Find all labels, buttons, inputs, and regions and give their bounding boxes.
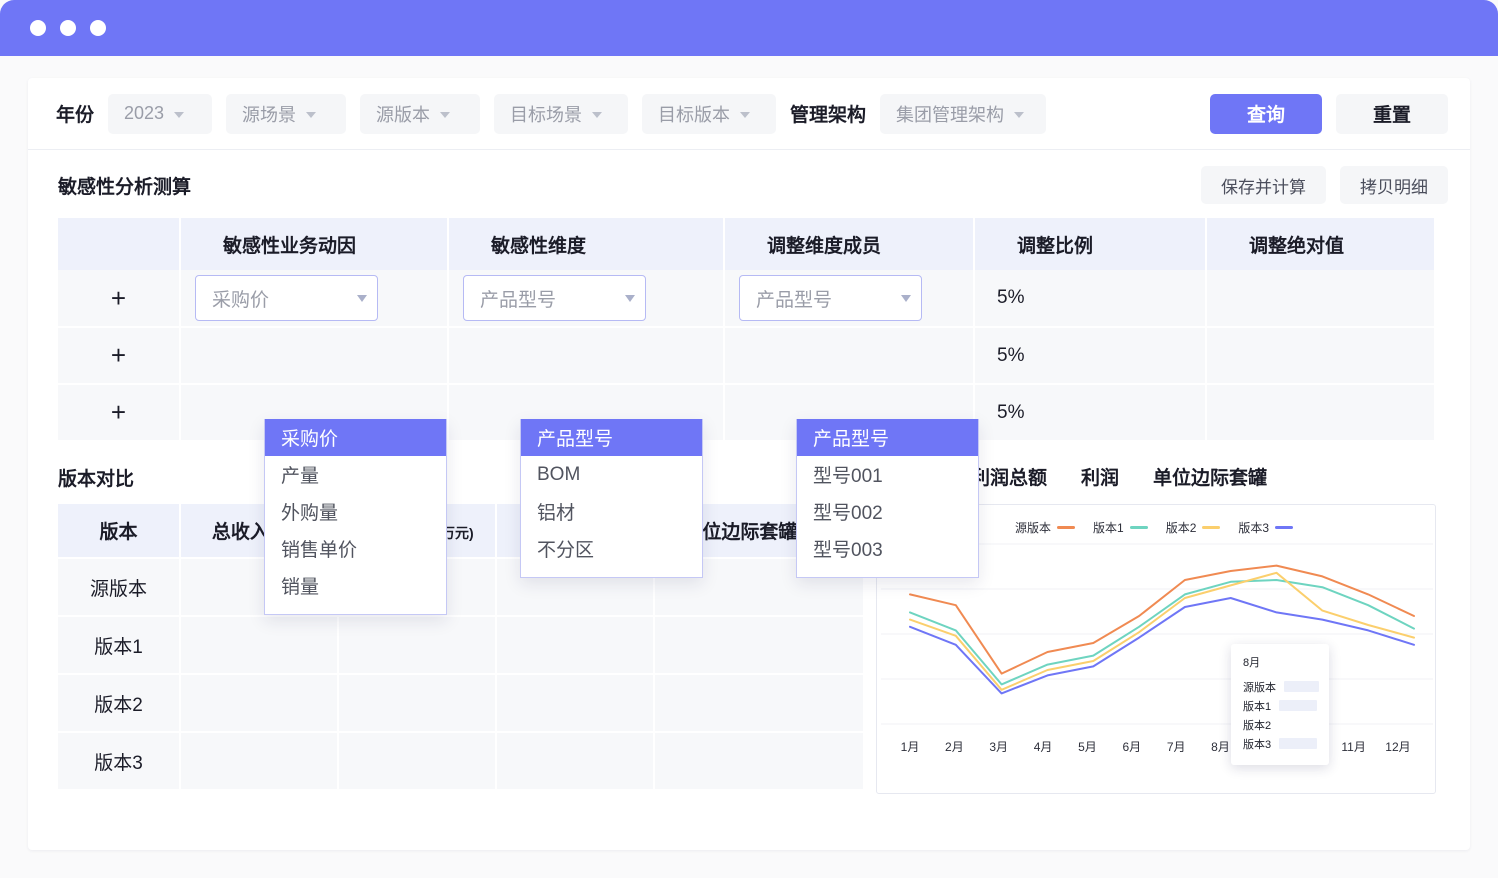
dimension-combobox[interactable]: 产品型号 (463, 275, 646, 321)
table-row: 版本1 (58, 616, 864, 674)
cell-ratio[interactable]: 5% (974, 327, 1206, 384)
legend-label-source: 源版本 (1015, 519, 1051, 536)
cell-net-profit (496, 732, 654, 790)
app-content: 年份 2023 源场景 源版本 目标场景 目标版本 管理架构 (28, 78, 1470, 850)
driver-option-1[interactable]: 产量 (265, 456, 446, 493)
cell-version: 版本3 (58, 732, 180, 790)
col-member: 调整维度成员 (724, 218, 974, 270)
legend-swatch-source (1057, 526, 1075, 529)
version-comparison-panel: 版本对比 版本 总收入(万元) 利润总额(万元) (58, 456, 864, 794)
cell-version: 源版本 (58, 558, 180, 616)
legend-label-v1: 版本1 (1093, 519, 1124, 536)
save-and-calculate-button[interactable]: 保存并计算 (1201, 166, 1326, 204)
chevron-down-icon (740, 112, 750, 118)
target-version-select[interactable]: 目标版本 (642, 94, 776, 134)
dimension-option-1[interactable]: BOM (521, 456, 702, 493)
dimension-dropdown-list[interactable]: 产品型号 BOM 铝材 不分区 (520, 419, 703, 578)
cell-absolute[interactable] (1206, 327, 1435, 384)
cell-dimension: 产品型号 (448, 270, 724, 327)
legend-label-v3: 版本3 (1238, 519, 1269, 536)
table-row: 版本2 (58, 674, 864, 732)
cell-ratio[interactable]: 5% (974, 384, 1206, 441)
table-row: 版本3 (58, 732, 864, 790)
source-scenario-value: 源场景 (242, 101, 296, 127)
chevron-down-icon (357, 295, 367, 302)
x-tick: 1月 (891, 738, 929, 755)
cell-ratio[interactable]: 5% (974, 270, 1206, 327)
sensitivity-section-header: 敏感性分析测算 保存并计算 拷贝明细 (28, 150, 1470, 218)
cell-total-profit (338, 616, 496, 674)
legend-item-v2[interactable]: 版本2 (1166, 519, 1221, 536)
table-row: + 采购价 产品型号 (58, 270, 1435, 327)
driver-option-2[interactable]: 外购量 (265, 493, 446, 530)
member-option-2[interactable]: 型号002 (797, 493, 978, 530)
tab-unit-margin[interactable]: 单位边际套罐 (1153, 463, 1267, 498)
tooltip-value-v2 (1279, 719, 1317, 730)
sensitivity-title: 敏感性分析测算 (58, 172, 191, 199)
year-select[interactable]: 2023 (108, 94, 212, 134)
tab-total-profit[interactable]: 利润总额 (971, 463, 1047, 498)
dimension-option-0[interactable]: 产品型号 (521, 419, 702, 456)
chart-x-axis: 1月 2月 3月 4月 5月 6月 7月 8月 9月 10月 11月 12月 (877, 738, 1435, 755)
legend-item-v3[interactable]: 版本3 (1238, 519, 1293, 536)
cell-total-profit (338, 674, 496, 732)
tooltip-name-source: 源版本 (1243, 679, 1276, 695)
member-combobox[interactable]: 产品型号 (739, 275, 922, 321)
legend-label-v2: 版本2 (1166, 519, 1197, 536)
series-line-1 (910, 580, 1414, 684)
cell-total-profit (338, 732, 496, 790)
series-line-0 (910, 566, 1414, 674)
reset-button[interactable]: 重置 (1336, 94, 1448, 134)
member-option-1[interactable]: 型号001 (797, 456, 978, 493)
add-row-button[interactable]: + (58, 270, 180, 327)
window-titlebar (0, 0, 1498, 56)
target-scenario-value: 目标场景 (510, 101, 582, 127)
tooltip-row: 版本3 (1243, 734, 1319, 753)
driver-option-0[interactable]: 采购价 (265, 419, 446, 456)
col-dimension: 敏感性维度 (448, 218, 724, 270)
filter-toolbar: 年份 2023 源场景 源版本 目标场景 目标版本 管理架构 (28, 78, 1470, 150)
tooltip-row: 版本2 (1243, 715, 1319, 734)
comparison-title: 版本对比 (58, 456, 864, 498)
cell-version: 版本1 (58, 616, 180, 674)
tooltip-value-v1 (1279, 700, 1317, 711)
legend-item-v1[interactable]: 版本1 (1093, 519, 1148, 536)
copy-detail-button[interactable]: 拷贝明细 (1340, 166, 1448, 204)
cell-unit-margin (654, 616, 864, 674)
sensitivity-table-body: + 采购价 产品型号 (58, 270, 1435, 441)
lower-area: 版本对比 版本 总收入(万元) 利润总额(万元) (28, 456, 1470, 794)
cell-net-profit (496, 616, 654, 674)
table-row: 源版本 (58, 558, 864, 616)
cell-absolute[interactable] (1206, 270, 1435, 327)
add-row-button[interactable]: + (58, 384, 180, 441)
sensitivity-table: 敏感性业务动因 敏感性维度 调整维度成员 调整比例 调整绝对值 + 采购价 (58, 218, 1436, 442)
comparison-table: 版本 总收入(万元) 利润总额(万元) 净利润(万元) (58, 504, 865, 791)
cell-unit-margin (654, 732, 864, 790)
dimension-option-2[interactable]: 铝材 (521, 493, 702, 530)
legend-swatch-v3 (1275, 526, 1293, 529)
cell-unit-margin (654, 674, 864, 732)
sensitivity-actions: 保存并计算 拷贝明细 (1201, 166, 1448, 204)
cell-driver[interactable] (180, 327, 448, 384)
driver-dropdown-list[interactable]: 采购价 产量 外购量 销售单价 销量 (264, 419, 447, 615)
cell-version: 版本2 (58, 674, 180, 732)
year-label: 年份 (56, 100, 94, 127)
col-spacer (58, 218, 180, 270)
chevron-down-icon (1014, 112, 1024, 118)
org-structure-label: 管理架构 (790, 100, 866, 127)
cell-total-revenue (180, 674, 338, 732)
tooltip-row: 源版本 (1243, 677, 1319, 696)
cell-absolute[interactable] (1206, 384, 1435, 441)
col-absolute: 调整绝对值 (1206, 218, 1435, 270)
chevron-down-icon (592, 112, 602, 118)
col-driver: 敏感性业务动因 (180, 218, 448, 270)
maximize-dot-icon[interactable] (90, 20, 106, 36)
driver-combobox-value: 采购价 (212, 285, 269, 312)
comparison-header-row: 版本 总收入(万元) 利润总额(万元) 净利润(万元) (58, 504, 864, 558)
chart-tooltip: 8月 源版本 版本1 版本2 (1231, 644, 1329, 765)
dimension-option-3[interactable]: 不分区 (521, 530, 702, 567)
col-version-name: 版本 (99, 522, 137, 543)
series-line-2 (910, 573, 1414, 690)
x-tick: 5月 (1068, 738, 1106, 755)
col-total-revenue-name: 总收入 (212, 522, 269, 543)
cell-total-revenue (180, 732, 338, 790)
legend-swatch-v2 (1202, 526, 1220, 529)
table-row: + 5% (58, 327, 1435, 384)
driver-combobox[interactable]: 采购价 (195, 275, 378, 321)
col-ratio: 调整比例 (974, 218, 1206, 270)
chevron-down-icon (625, 295, 635, 302)
cell-dimension[interactable] (448, 327, 724, 384)
dimension-combobox-value: 产品型号 (480, 285, 556, 312)
tab-profit[interactable]: 利润 (1081, 463, 1119, 498)
chevron-down-icon (306, 112, 316, 118)
sensitivity-grid-wrap: 敏感性业务动因 敏感性维度 调整维度成员 调整比例 调整绝对值 + 采购价 (28, 218, 1470, 442)
legend-swatch-v1 (1130, 526, 1148, 529)
tooltip-name-v3: 版本3 (1243, 736, 1271, 752)
org-structure-select[interactable]: 集团管理架构 (880, 94, 1046, 134)
target-version-value: 目标版本 (658, 101, 730, 127)
close-dot-icon[interactable] (30, 20, 46, 36)
tooltip-name-v2: 版本2 (1243, 717, 1271, 733)
source-version-value: 源版本 (376, 101, 430, 127)
sensitivity-header-row: 敏感性业务动因 敏感性维度 调整维度成员 调整比例 调整绝对值 (58, 218, 1435, 270)
query-button[interactable]: 查询 (1210, 94, 1322, 134)
tooltip-row: 版本1 (1243, 696, 1319, 715)
member-combobox-value: 产品型号 (756, 285, 832, 312)
tooltip-name-v1: 版本1 (1243, 698, 1271, 714)
x-tick: 12月 (1379, 738, 1417, 755)
add-row-button[interactable]: + (58, 327, 180, 384)
x-tick: 3月 (980, 738, 1018, 755)
target-scenario-select[interactable]: 目标场景 (494, 94, 628, 134)
cell-member[interactable] (724, 327, 974, 384)
driver-option-3[interactable]: 销售单价 (265, 530, 446, 567)
cell-member: 产品型号 (724, 270, 974, 327)
cell-net-profit (496, 674, 654, 732)
x-tick: 7月 (1157, 738, 1195, 755)
member-dropdown-list[interactable]: 产品型号 型号001 型号002 型号003 (796, 419, 979, 578)
tooltip-title: 8月 (1243, 654, 1319, 670)
source-version-select[interactable]: 源版本 (360, 94, 480, 134)
source-scenario-select[interactable]: 源场景 (226, 94, 346, 134)
year-select-value: 2023 (124, 103, 164, 124)
org-structure-value: 集团管理架构 (896, 101, 1004, 127)
cell-total-revenue (180, 616, 338, 674)
legend-item-source[interactable]: 源版本 (1015, 519, 1075, 536)
cell-driver: 采购价 (180, 270, 448, 327)
minimize-dot-icon[interactable] (60, 20, 76, 36)
col-version: 版本 (58, 504, 180, 558)
sensitivity-table-head: 敏感性业务动因 敏感性维度 调整维度成员 调整比例 调整绝对值 (58, 218, 1435, 270)
x-tick: 6月 (1113, 738, 1151, 755)
member-option-3[interactable]: 型号003 (797, 530, 978, 567)
chevron-down-icon (440, 112, 450, 118)
chevron-down-icon (901, 295, 911, 302)
comparison-table-body: 源版本 版本1 (58, 558, 864, 790)
x-tick: 2月 (935, 738, 973, 755)
driver-option-4[interactable]: 销量 (265, 567, 446, 604)
tooltip-value-v3 (1279, 738, 1317, 749)
comparison-table-head: 版本 总收入(万元) 利润总额(万元) 净利润(万元) (58, 504, 864, 558)
x-tick: 4月 (1024, 738, 1062, 755)
chevron-down-icon (174, 112, 184, 118)
tooltip-value-source (1284, 681, 1319, 692)
x-tick: 11月 (1335, 738, 1373, 755)
member-option-0[interactable]: 产品型号 (797, 419, 978, 456)
app-window: 年份 2023 源场景 源版本 目标场景 目标版本 管理架构 (0, 0, 1498, 878)
